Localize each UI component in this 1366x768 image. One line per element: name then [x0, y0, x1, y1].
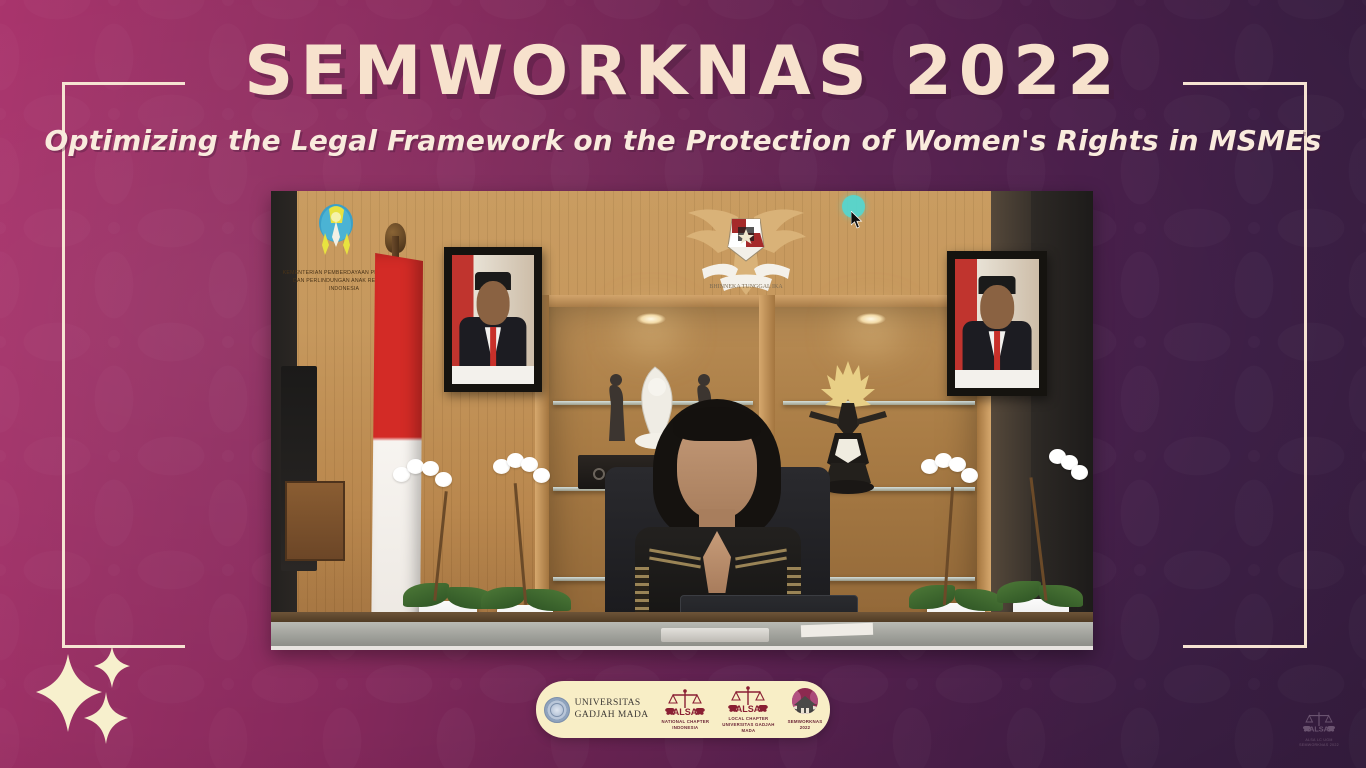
portrait-vice-president: [947, 251, 1047, 396]
sponsor-logo-bar: UNIVERSITAS GADJAH MADA ALSA NATIONAL CH…: [536, 681, 830, 738]
semworknas-joglo-house-icon: [788, 688, 822, 719]
video-feed-panel[interactable]: KEMENTERIAN PEMBERDAYAAN PEREMPUAN DAN P…: [271, 191, 1093, 650]
page-title: SEMWORKNAS 2022: [0, 38, 1366, 106]
alsa-scales-icon-local: ALSA: [727, 685, 769, 715]
portrait-president-image: [452, 255, 534, 384]
slide-stage: SEMWORKNAS 2022 Optimizing the Legal Fra…: [0, 0, 1366, 768]
paper-document: [801, 623, 873, 638]
frame-bottom-right-stub: [1183, 645, 1307, 648]
alsa-scales-icon: ALSA: [664, 688, 706, 718]
portrait-vice-president-image: [955, 259, 1039, 388]
ugm-label-line2: GADJAH MADA: [575, 710, 649, 721]
svg-text:BHINNEKA TUNGGAL IKA: BHINNEKA TUNGGAL IKA: [709, 284, 783, 290]
alsa-national-caption-2: INDONESIA: [661, 725, 709, 731]
logo-alsa-local-chapter-ugm: ALSA LOCAL CHAPTER UNIVERSITAS GADJAH MA…: [722, 685, 774, 735]
sparkle-medium: [94, 646, 130, 688]
alsa-watermark-icon: ALSA: [1302, 708, 1336, 736]
alsa-wordmark-local: ALSA: [736, 704, 761, 714]
garuda-pancasila-emblem: BHINNEKA TUNGGAL IKA: [676, 199, 816, 304]
desk-edge-wood: [271, 612, 1093, 622]
svg-text:ALSA: ALSA: [1309, 724, 1330, 733]
logo-alsa-national-chapter: ALSA NATIONAL CHAPTER INDONESIA: [661, 688, 709, 731]
watermark-line2: SEMWORKNAS 2022: [1299, 743, 1339, 748]
keyboard: [661, 628, 769, 642]
sparkle-stars-decoration: [36, 636, 148, 746]
alsa-local-caption-1: LOCAL CHAPTER: [722, 716, 774, 722]
ugm-label-line1: UNIVERSITAS: [575, 698, 649, 709]
ceiling-downlight-left: [636, 313, 666, 325]
title-block: SEMWORKNAS 2022 Optimizing the Legal Fra…: [0, 38, 1366, 157]
ugm-seal-icon: [544, 697, 570, 723]
alsa-local-caption-3: MADA: [722, 728, 774, 734]
portrait-president: [444, 247, 542, 392]
logo-semworknas-2022: SEMWORKNAS 2022: [788, 688, 823, 731]
semworknas-caption-2: 2022: [788, 725, 823, 731]
alsa-watermark: ALSA ALSA LC UGM SEMWORKNAS 2022: [1290, 702, 1348, 754]
video-feed-content: KEMENTERIAN PEMBERDAYAAN PEREMPUAN DAN P…: [271, 191, 1093, 646]
speaker-fringe: [673, 407, 761, 441]
ministry-of-women-empowerment-logo: [309, 203, 363, 265]
frame-left-edge: [62, 82, 65, 648]
ceiling-downlight-right: [856, 313, 886, 325]
frame-right-edge: [1304, 82, 1307, 648]
page-subtitle: Optimizing the Legal Framework on the Pr…: [0, 124, 1366, 157]
logo-universitas-gadjah-mada: UNIVERSITAS GADJAH MADA: [544, 697, 649, 723]
mouse-cursor-icon: [851, 211, 863, 229]
alsa-wordmark-national: ALSA: [673, 707, 698, 717]
left-cabinet-upper: [285, 481, 345, 561]
sparkle-small: [84, 692, 128, 744]
pedestal-knob: [593, 468, 605, 480]
